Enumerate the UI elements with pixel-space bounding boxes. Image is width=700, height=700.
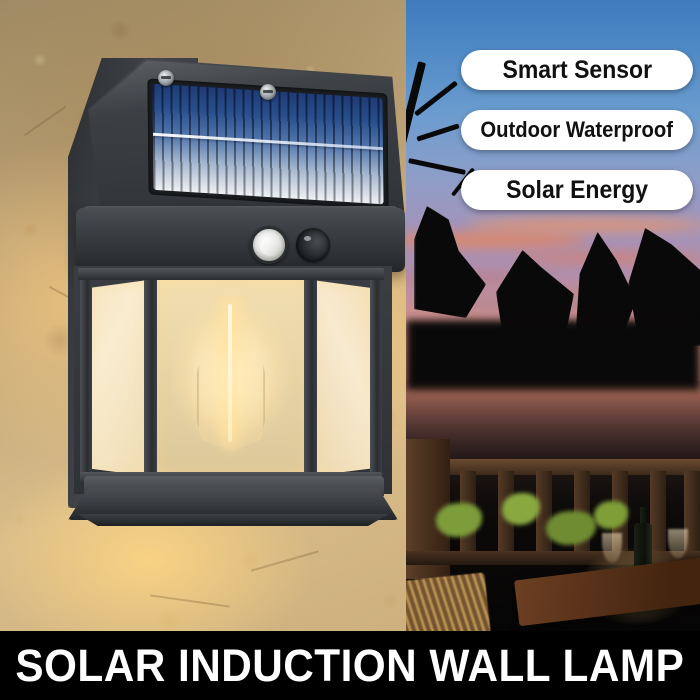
housing-frame-post (370, 274, 382, 480)
palm-frond-silhouette (414, 81, 458, 117)
solar-panel-cells (152, 84, 383, 205)
feature-badge-label: Solar Energy (506, 178, 648, 203)
palm-frond-silhouette (408, 158, 466, 175)
feature-badge-label: Outdoor Waterproof (481, 119, 674, 141)
feature-badge-label: Smart Sensor (502, 58, 652, 83)
deck-railing (406, 381, 700, 631)
base-plate-lip (64, 514, 402, 526)
product-advertisement-image: Smart Sensor Outdoor Waterproof Solar En… (0, 0, 700, 700)
sensor-bar (76, 208, 405, 272)
left-product-photo (0, 0, 406, 631)
light-sensor (296, 228, 330, 262)
mounting-screw (260, 84, 276, 100)
palm-frond-silhouette (416, 123, 459, 141)
feature-badge-outdoor-waterproof[interactable]: Outdoor Waterproof (461, 110, 693, 150)
housing-frame-post (144, 270, 157, 482)
housing-frame-post (304, 270, 317, 482)
housing-frame-rail (78, 268, 384, 280)
product-title: SOLAR INDUCTION WALL LAMP (16, 643, 685, 688)
bulb-filament (228, 304, 232, 442)
feature-badge-list: Smart Sensor Outdoor Waterproof Solar En… (461, 50, 693, 230)
feature-badge-solar-energy[interactable]: Solar Energy (461, 170, 693, 210)
glass-panel-right (312, 280, 374, 476)
housing-frame-post (80, 272, 92, 482)
bottom-title-banner: SOLAR INDUCTION WALL LAMP (0, 631, 700, 700)
glass-panel-left (86, 280, 148, 476)
mounting-screw (158, 70, 174, 86)
solar-panel-busbar (153, 133, 383, 150)
foliage (502, 493, 540, 525)
solar-wall-lamp (60, 48, 405, 548)
patio-chair (406, 572, 491, 631)
feature-badge-smart-sensor[interactable]: Smart Sensor (461, 50, 693, 90)
pir-motion-sensor (250, 226, 288, 264)
palm-frond-silhouette (406, 320, 700, 390)
